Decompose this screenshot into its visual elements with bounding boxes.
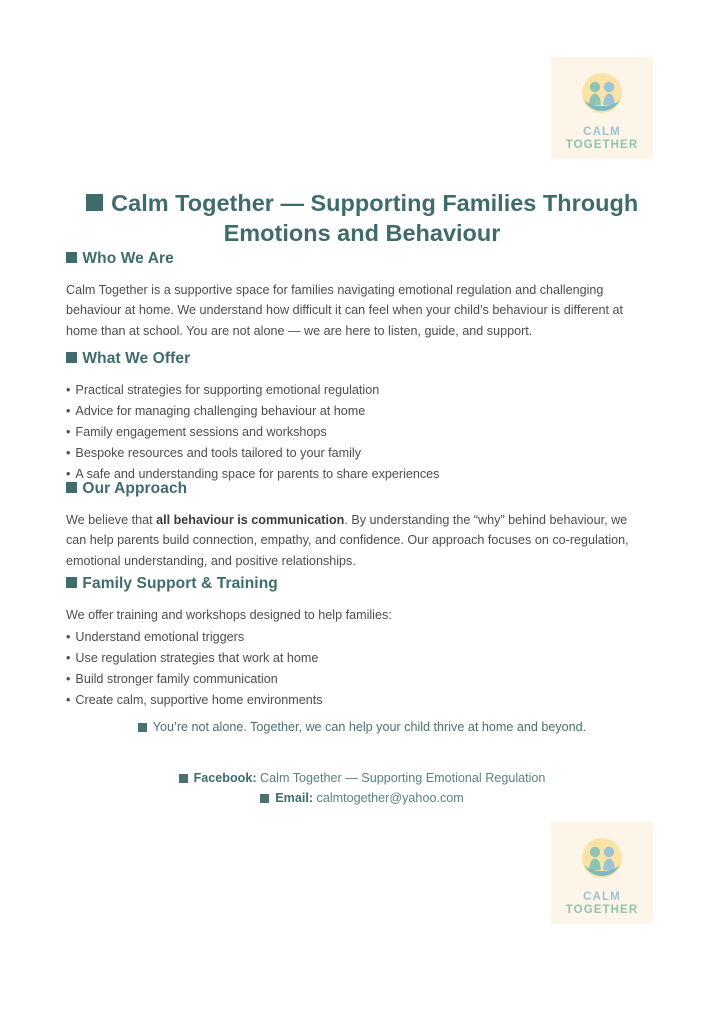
list-item: Build stronger family communication [66,669,640,690]
email-label: Email: [275,791,313,805]
closing-tagline: You’re not alone. Together, we can help … [62,718,662,737]
facebook-value: Calm Together — Supporting Emotional Reg… [260,771,545,785]
approach-text-before: We believe that [66,513,156,527]
list-item: Bespoke resources and tools tailored to … [66,443,640,464]
section-paragraph: We believe that all behaviour is communi… [66,510,640,571]
section-family-support-training: Family Support & Training We offer train… [66,575,640,710]
training-lead-in: We offer training and workshops designed… [66,605,640,626]
logo-footer: CALM TOGETHER [551,822,653,924]
document-page: CALM TOGETHER Calm Together — Supporting… [0,0,724,1024]
calm-together-logo-icon [573,67,631,125]
section-heading-text: Who We Are [82,250,173,267]
logo-word-calm: CALM [566,891,638,904]
list-item: Understand emotional triggers [66,627,640,648]
section-who-we-are: Who We Are Calm Together is a supportive… [66,250,640,341]
square-bullet-icon [66,482,77,493]
section-heading-family-support-training: Family Support & Training [66,575,640,593]
square-bullet-icon [179,774,188,783]
square-bullet-icon [66,577,77,588]
square-bullet-icon [66,252,77,263]
logo-wordmark: CALM TOGETHER [566,891,638,917]
square-bullet-icon [138,723,147,732]
calm-together-logo-icon [573,832,631,890]
logo-wordmark: CALM TOGETHER [566,126,638,152]
approach-text-emphasis: all behaviour is communication [156,513,344,527]
list-item: Create calm, supportive home environment… [66,690,640,711]
section-heading-text: What We Offer [82,350,190,367]
list-item: Advice for managing challenging behaviou… [66,401,640,422]
square-bullet-icon [260,794,269,803]
section-heading-text: Our Approach [82,480,187,497]
list-item: Family engagement sessions and workshops [66,422,640,443]
section-heading-who-we-are: Who We Are [66,250,640,268]
section-our-approach: Our Approach We believe that all behavio… [66,480,640,571]
contact-block: Facebook: Calm Together — Supporting Emo… [62,768,662,809]
square-bullet-icon [66,352,77,363]
training-list: Understand emotional triggers Use regula… [66,627,640,711]
tagline-text: You’re not alone. Together, we can help … [153,720,586,734]
contact-email[interactable]: Email: calmtogether@yahoo.com [62,788,662,808]
section-paragraph: Calm Together is a supportive space for … [66,280,640,341]
offer-list: Practical strategies for supporting emot… [66,380,640,484]
contact-facebook[interactable]: Facebook: Calm Together — Supporting Emo… [62,768,662,788]
page-title-text: Calm Together — Supporting Families Thro… [111,190,638,246]
section-heading-our-approach: Our Approach [66,480,640,498]
logo-header: CALM TOGETHER [551,57,653,159]
logo-word-calm: CALM [566,126,638,139]
section-heading-text: Family Support & Training [82,575,277,592]
facebook-label: Facebook: [194,771,257,785]
section-heading-what-we-offer: What We Offer [66,350,640,368]
logo-word-together: TOGETHER [566,904,638,917]
section-what-we-offer: What We Offer Practical strategies for s… [66,350,640,484]
logo-word-together: TOGETHER [566,139,638,152]
list-item: Use regulation strategies that work at h… [66,648,640,669]
page-title: Calm Together — Supporting Families Thro… [62,188,662,248]
list-item: Practical strategies for supporting emot… [66,380,640,401]
square-bullet-icon [86,194,103,211]
email-value: calmtogether@yahoo.com [317,791,464,805]
